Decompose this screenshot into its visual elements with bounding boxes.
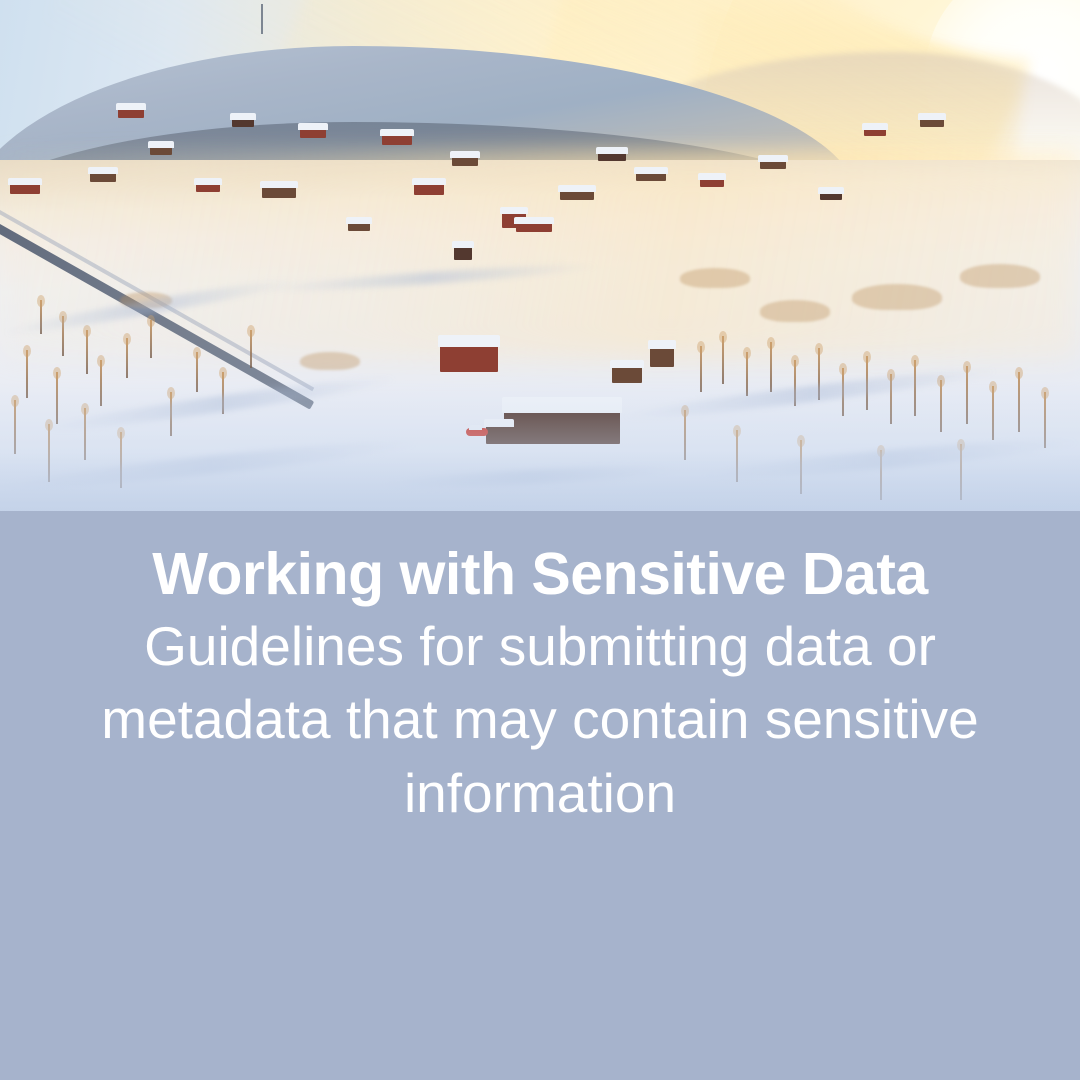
birch-tree (86, 330, 88, 374)
cabin (90, 172, 116, 182)
scrub (680, 268, 750, 288)
storehouse (650, 345, 674, 367)
birch-tree (150, 320, 152, 358)
birch-tree (250, 330, 252, 368)
hero-image (0, 0, 1080, 511)
cabin (10, 183, 40, 194)
cabin (118, 108, 144, 118)
scrub (960, 264, 1040, 288)
cabin (700, 178, 724, 187)
cabin (864, 128, 886, 136)
cabin (920, 118, 944, 127)
cabin (598, 152, 626, 161)
page-title: Working with Sensitive Data (152, 543, 928, 606)
antenna-mast (261, 4, 263, 34)
cabin (382, 134, 412, 145)
social-card: Working with Sensitive Data Guidelines f… (0, 0, 1080, 1080)
scrub (760, 300, 830, 322)
cabin (196, 183, 220, 192)
cabin (150, 146, 172, 155)
scrub (300, 352, 360, 370)
cabin (560, 190, 594, 200)
birch-tree (126, 338, 128, 378)
page-subtitle: Guidelines for submitting data or metada… (45, 610, 1035, 831)
cabin (348, 222, 370, 231)
cabin (636, 172, 666, 181)
cabin (760, 160, 786, 169)
cabin (262, 186, 296, 198)
birch-tree (722, 336, 724, 384)
snow-warm-light (0, 160, 1080, 360)
cabin (516, 222, 552, 232)
photo-bottom-fade (0, 451, 1080, 511)
cabin (232, 118, 254, 127)
scrub (852, 284, 942, 310)
cabin (414, 183, 444, 195)
cabin (820, 192, 842, 200)
caption-panel: Working with Sensitive Data Guidelines f… (0, 511, 1080, 1080)
cabin (452, 156, 478, 166)
farmhouse (440, 340, 498, 372)
cabin (300, 128, 326, 138)
shed (454, 246, 472, 260)
